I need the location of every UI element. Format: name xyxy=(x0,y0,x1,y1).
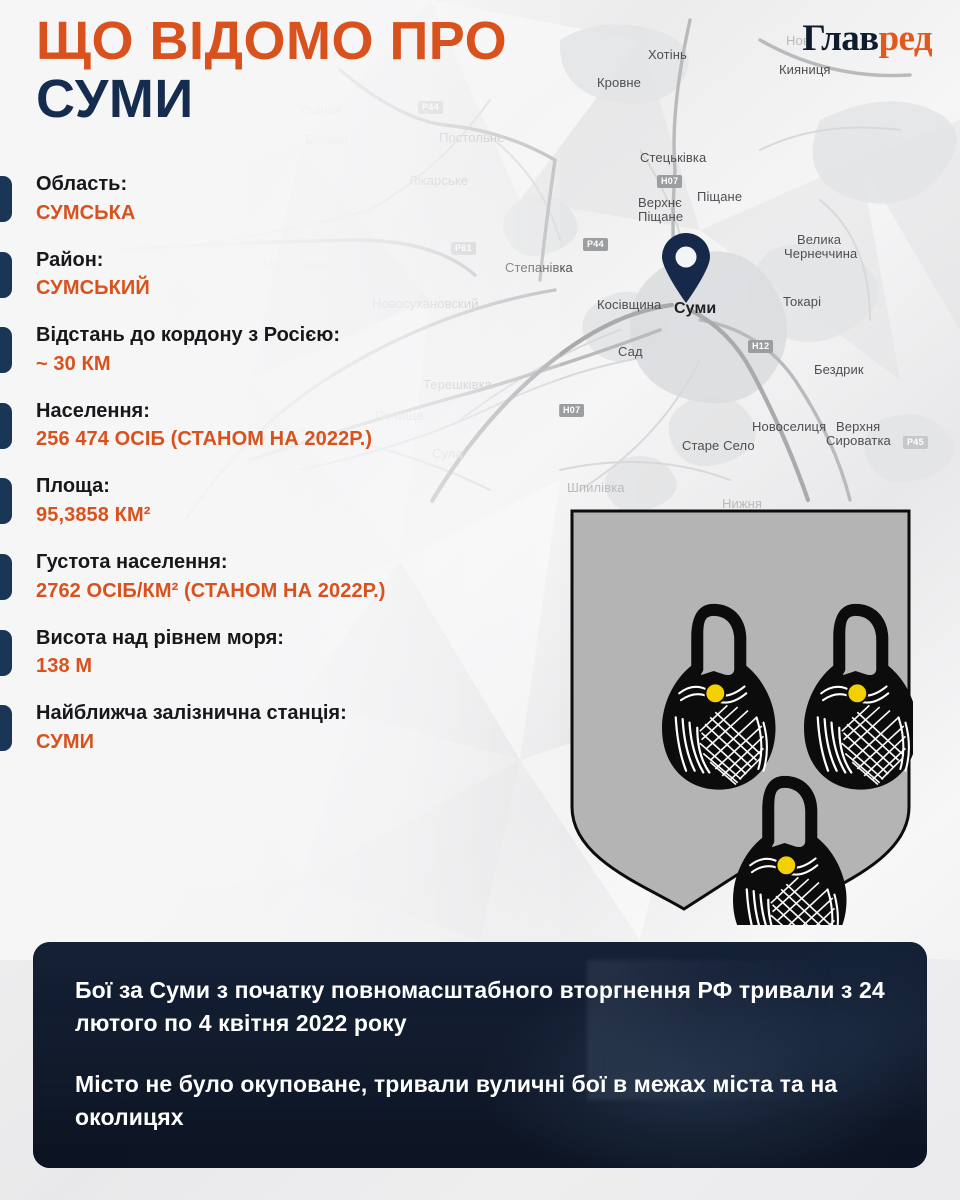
map-road-shield: Н12 xyxy=(748,340,773,353)
map-label-sumy: Суми xyxy=(674,300,716,318)
brand-logo[interactable]: Главред xyxy=(802,20,932,57)
stat-bullet-marker xyxy=(0,478,12,524)
stat-label: Населення: xyxy=(36,399,560,425)
brand-logo-dark: Глав xyxy=(802,18,878,59)
map-label-place: Токарі xyxy=(783,295,821,310)
stat-label: Район: xyxy=(36,248,560,274)
stat-row: Населення:256 474 ОСІБ (СТАНОМ НА 2022Р.… xyxy=(0,399,560,453)
map-label-place: Піщане xyxy=(697,190,742,205)
map-pin-sumy[interactable] xyxy=(660,232,712,309)
stat-value: СУМИ xyxy=(36,729,560,755)
banner-paragraph-1: Бої за Суми з початку повномасштабного в… xyxy=(75,974,887,1039)
brand-logo-red: ред xyxy=(879,18,932,59)
map-label-place: Сад xyxy=(618,345,643,360)
stat-row: Район:СУМСЬКИЙ xyxy=(0,248,560,302)
stat-value: ~ 30 КМ xyxy=(36,351,560,377)
stat-value: 138 М xyxy=(36,653,560,679)
stat-label: Площа: xyxy=(36,474,560,500)
stat-value: СУМСЬКИЙ xyxy=(36,275,560,301)
stat-bullet-marker xyxy=(0,554,12,600)
stat-bullet-marker xyxy=(0,630,12,676)
map-label-place: Постольне xyxy=(439,131,505,146)
map-road-shield: Н07 xyxy=(559,404,584,417)
map-label-place: Старе Село xyxy=(682,439,755,454)
stat-row: Густота населення:2762 ОСІБ/КМ² (СТАНОМ … xyxy=(0,550,560,604)
stat-value: 2762 ОСІБ/КМ² (СТАНОМ НА 2022Р.) xyxy=(36,578,560,604)
coat-of-arms xyxy=(568,507,913,925)
stat-label: Відстань до кордону з Росією: xyxy=(36,323,560,349)
stat-label: Висота над рівнем моря: xyxy=(36,626,560,652)
map-label-place: Бездрик xyxy=(814,363,864,378)
stat-bullet-marker xyxy=(0,176,12,222)
stat-row: Висота над рівнем моря:138 М xyxy=(0,626,560,680)
map-road-shield: Р45 xyxy=(903,436,928,449)
map-label-place: Біланы xyxy=(305,133,348,148)
stat-bullet-marker xyxy=(0,252,12,298)
stat-bullet-marker xyxy=(0,327,12,373)
stat-row: Найближча залізнична станція:СУМИ xyxy=(0,701,560,755)
map-label-place: Сироватка xyxy=(826,434,891,449)
map-label-place: Кровне xyxy=(597,76,641,91)
map-label-place: Новоселиця xyxy=(752,420,826,435)
stat-value: СУМСЬКА xyxy=(36,200,560,226)
stat-bullet-marker xyxy=(0,403,12,449)
map-label-place: Шпилівка xyxy=(567,481,625,496)
map-road-shield: Р44 xyxy=(583,238,608,251)
map-label-place: Піщане xyxy=(638,210,683,225)
stats-list: Область:СУМСЬКАРайон:СУМСЬКИЙВідстань до… xyxy=(0,172,560,777)
banner-paragraph-2: Місто не було окуповане, тривали вуличні… xyxy=(75,1068,887,1133)
map-label-place: Кияниця xyxy=(779,63,831,78)
stat-label: Густота населення: xyxy=(36,550,560,576)
stat-row: Відстань до кордону з Росією:~ 30 КМ xyxy=(0,323,560,377)
stat-label: Область: xyxy=(36,172,560,198)
stat-row: Площа:95,3858 КМ² xyxy=(0,474,560,528)
title-line-1: ЩО ВІДОМО ПРО xyxy=(36,14,507,69)
stat-row: Область:СУМСЬКА xyxy=(0,172,560,226)
map-label-place: Стецьківка xyxy=(640,151,706,166)
map-label-place: Чернеччина xyxy=(784,247,857,262)
stat-value: 95,3858 КМ² xyxy=(36,502,560,528)
map-label-place: Косівщина xyxy=(597,298,661,313)
title-line-2: СУМИ xyxy=(36,71,507,128)
infographic-root: ХотіньКровнеНовіКияницяСтецьківкаПіщанеВ… xyxy=(0,0,960,1200)
stat-value: 256 474 ОСІБ (СТАНОМ НА 2022Р.) xyxy=(36,426,560,452)
banner-text-group: Бої за Суми з початку повномасштабного в… xyxy=(33,942,927,1134)
summary-banner: Бої за Суми з початку повномасштабного в… xyxy=(33,942,927,1168)
stat-bullet-marker xyxy=(0,705,12,751)
stat-label: Найближча залізнична станція: xyxy=(36,701,560,727)
map-label-place: Хотінь xyxy=(648,48,687,63)
page-title: ЩО ВІДОМО ПРО СУМИ xyxy=(36,14,507,128)
map-road-shield: Н07 xyxy=(657,175,682,188)
